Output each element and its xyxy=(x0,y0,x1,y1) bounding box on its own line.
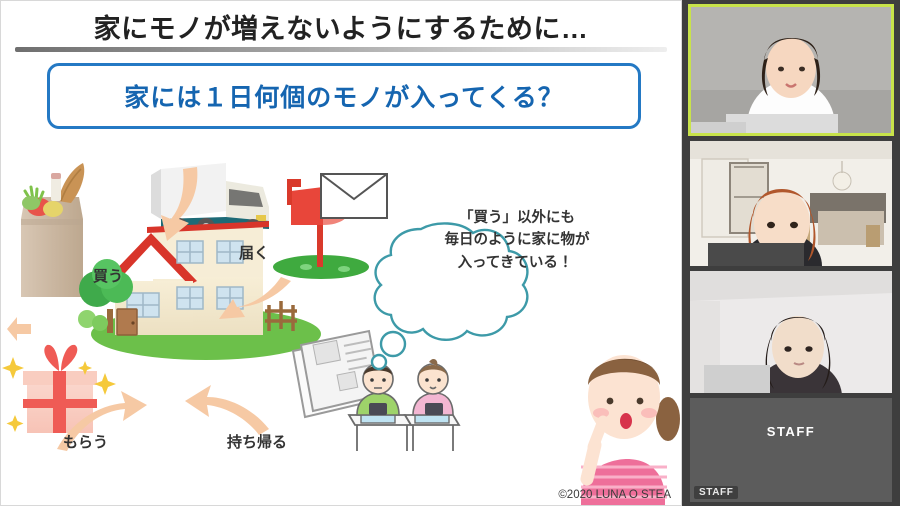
bubble-line-3: 入ってきている ！ xyxy=(399,252,635,274)
participant-tile-1[interactable] xyxy=(690,6,892,134)
thought-bubble-text: 「買う」以外にも 毎日のように家に物が 入ってきている ！ xyxy=(399,207,635,274)
house-icon xyxy=(78,221,321,360)
envelope-icon xyxy=(321,174,387,218)
tile-4-center-label: STAFF xyxy=(690,424,892,439)
participant-tile-3[interactable] xyxy=(690,271,892,393)
question-text: 家には１日何個のモノが入ってくる？ xyxy=(124,78,564,114)
title-divider xyxy=(15,47,667,52)
shared-slide: 家にモノが増えないようにするために… 家には１日何個のモノが入ってくる？ xyxy=(0,0,682,506)
video-conference-window: 家にモノが増えないようにするために… 家には１日何個のモノが入ってくる？ xyxy=(0,0,900,506)
label-deliver: 届く xyxy=(239,242,269,263)
tile-4-name-badge: STAFF xyxy=(694,486,738,499)
gift-box-icon xyxy=(2,345,116,433)
bubble-line-1: 「買う」以外にも xyxy=(399,207,635,229)
participant-tile-4[interactable]: STAFF STAFF xyxy=(690,398,892,502)
copyright-notice: ©2020 LUNA O STEA xyxy=(558,489,671,501)
participant-rail: STAFF STAFF xyxy=(682,0,900,506)
label-buy: 買う xyxy=(93,265,123,286)
participant-tile-2[interactable] xyxy=(690,141,892,266)
bubble-line-2: 毎日のように家に物が xyxy=(399,229,635,251)
label-receive: もらう xyxy=(63,431,108,452)
label-bring-home: 持ち帰る xyxy=(227,431,287,452)
page-title: 家にモノが増えないようにするために… xyxy=(1,7,681,45)
thinking-woman-icon xyxy=(581,355,680,506)
question-box: 家には１日何個のモノが入ってくる？ xyxy=(47,63,641,129)
school-children-icon xyxy=(349,359,459,451)
grocery-bag-icon xyxy=(21,163,84,297)
